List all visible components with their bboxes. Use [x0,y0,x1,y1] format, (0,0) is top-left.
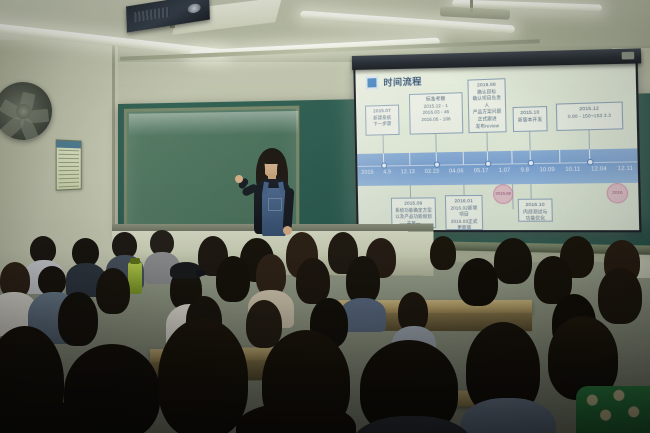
timeline-connector [529,132,530,151]
screen-housing-endcap [622,52,635,60]
projector-vent [134,7,170,23]
notice-board-header [57,140,81,148]
projector-lens [188,3,201,14]
timeline-date: 12.04 [591,166,607,173]
timeline-date: 12.13 [401,169,415,175]
timeline-date: 9.8 [521,167,530,173]
hair [246,300,282,348]
presenter [244,148,306,244]
green-water-bottle [128,262,142,294]
presenter-right-arm [283,188,295,231]
hair [58,292,98,346]
timeline-date: 2015 [361,170,373,176]
timeline-box-above: 2015.10 新版本开发 [513,106,548,132]
hair [494,238,532,284]
hair [430,236,456,270]
hair [296,258,330,304]
timeline-date: 10.09 [540,167,555,174]
presenter-left-hand [235,175,243,183]
presenter-overall-pocket [268,198,282,211]
hair [598,268,642,324]
slide-logo-square-icon [365,76,378,90]
timeline-badge-label: 2016 [612,191,622,196]
timeline-date: 05.17 [474,168,489,174]
notice-board-text-lines [59,150,79,188]
timeline-date: 1.07 [499,168,511,174]
timeline-connector [463,185,464,195]
timeline-connector [410,185,411,197]
timeline-box-above: 2015.12 0.00 - 150~153 3.3 [556,101,623,131]
timeline-tick [463,152,464,164]
presentation-slide: 时间流程 2015.07 新建系统 下一步骤 标准考察 2015.12 - 1 … [355,56,639,230]
green-patterned-garment [576,386,650,433]
chalkboard-glare [129,111,298,136]
hair [346,256,380,304]
hair [458,258,498,306]
timeline-date: 4.9 [383,169,391,175]
timeline-connector [486,133,487,152]
slide-title-row: 时间流程 [365,74,422,89]
timeline-box-below: 2016.10 内部测试与功能优化 [518,199,553,222]
timeline-connector [588,130,590,149]
cap-brim [196,270,206,276]
timeline-box-above: 2015.07 新建系统 下一步骤 [365,105,400,136]
projection-screen: 时间流程 2015.07 新建系统 下一步骤 标准考察 2015.12 - 1 … [353,54,641,233]
timeline-badge-label: 2015.08 [495,192,511,197]
hair [96,268,130,314]
presenter-right-hand [283,226,292,235]
timeline-date: 02.23 [425,169,439,175]
slide-title: 时间流程 [383,74,422,89]
timeline-date: 12.11 [618,166,634,173]
hair [216,256,250,302]
hair [158,318,248,433]
timeline-connector [435,134,436,152]
timeline-badge: 2015.08 [493,184,514,204]
timeline-date: 04.06 [449,168,464,174]
timeline-connector [383,135,384,153]
timeline-badge: 2016 [606,183,628,204]
timeline-connector [530,184,531,199]
timeline-box-above: 2016.08 确认目标 确认项目负责人 产品方案问题 正式跟进 发布revie… [467,78,506,133]
timeline-box-above: 标准考察 2015.12 - 1 2016.03 - 46 2016.05 - … [409,92,463,134]
timeline-box-below: 2016.01 2016.02新增项目 2016.03正式更新版 发布功能细节 … [445,195,483,230]
classroom-scene: 时间流程 2015.07 新建系统 下一步骤 标准考察 2015.12 - 1 … [0,0,650,433]
timeline-tick [409,153,410,165]
notice-board [56,139,82,190]
bottle-cap [130,258,140,264]
timeline-date: 10.11 [565,166,580,173]
